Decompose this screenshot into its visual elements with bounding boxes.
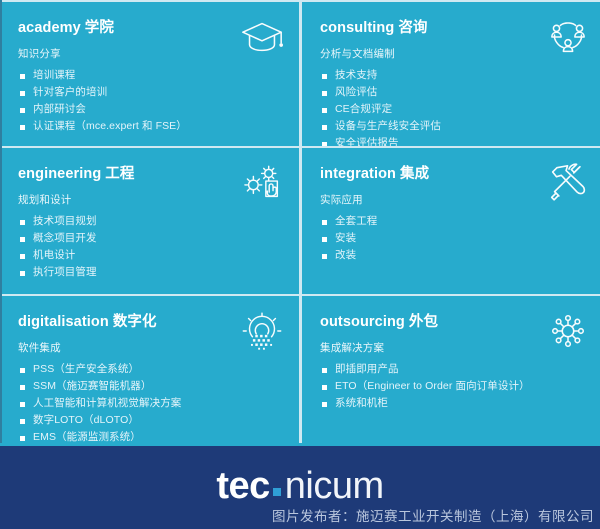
service-panel-digitalisation[interactable]: digitalisation数字化 软件集成 PSS（生产安全系统） SSM（施… xyxy=(2,296,299,449)
list-item: 执行项目管理 xyxy=(18,264,289,281)
panel-item-list: 全套工程 安装 改装 xyxy=(320,213,595,264)
panel-item-list: PSS（生产安全系统） SSM（施迈赛智能机器） 人工智能和计算机视觉解决方案 … xyxy=(18,361,289,446)
list-item: PSS（生产安全系统） xyxy=(18,361,289,378)
panel-title-cn: 集成 xyxy=(400,166,429,182)
list-item: 设备与生产线安全评估 xyxy=(320,118,595,135)
services-grid: academy学院 知识分享 培训课程 针对客户的培训 内部研讨会 认证课程（m… xyxy=(0,0,600,443)
logo-text-secondary: nicum xyxy=(285,465,384,507)
panel-title-en: engineering xyxy=(18,166,101,182)
digital-gear-pixel-icon xyxy=(239,308,285,354)
logo-text-primary: tec xyxy=(216,465,269,507)
footer-bar: tecnicum 图片发布者：施迈赛工业开关制造（上海）有限公司 xyxy=(0,443,600,529)
panel-title-en: outsourcing xyxy=(320,314,405,330)
list-item: 安装 xyxy=(320,230,595,247)
panel-title-cn: 外包 xyxy=(409,314,438,330)
list-item: 概念项目开发 xyxy=(18,230,289,247)
hub-nodes-icon xyxy=(545,308,591,354)
list-item: 针对客户的培训 xyxy=(18,84,289,101)
panel-title-cn: 咨询 xyxy=(398,20,427,36)
service-panel-academy[interactable]: academy学院 知识分享 培训课程 针对客户的培训 内部研讨会 认证课程（m… xyxy=(2,2,299,146)
service-panel-outsourcing[interactable]: outsourcing外包 集成解决方案 即插即用产品 ETO（Engineer… xyxy=(302,296,600,449)
panel-title-cn: 学院 xyxy=(85,20,114,36)
panel-title-en: digitalisation xyxy=(18,314,109,330)
list-item: ETO（Engineer to Order 面向订单设计） xyxy=(320,378,595,395)
list-item: 人工智能和计算机视觉解决方案 xyxy=(18,395,289,412)
left-edge-accent xyxy=(0,0,2,443)
panel-item-list: 培训课程 针对客户的培训 内部研讨会 认证课程（mce.expert 和 FSE… xyxy=(18,67,289,135)
panel-title-cn: 数字化 xyxy=(113,314,157,330)
panel-title-en: academy xyxy=(18,20,81,36)
people-network-icon xyxy=(545,14,591,60)
list-item: 技术项目规划 xyxy=(18,213,289,230)
tecnicum-services-infographic: academy学院 知识分享 培训课程 针对客户的培训 内部研讨会 认证课程（m… xyxy=(0,0,600,529)
panel-title-en: consulting xyxy=(320,20,394,36)
graduation-cap-icon xyxy=(239,14,285,60)
gears-hand-icon xyxy=(239,160,285,206)
panel-title-en: integration xyxy=(320,166,396,182)
panel-item-list: 技术项目规划 概念项目开发 机电设计 执行项目管理 xyxy=(18,213,289,281)
list-item: 风险评估 xyxy=(320,84,595,101)
list-item: CE合规评定 xyxy=(320,101,595,118)
list-item: 认证课程（mce.expert 和 FSE） xyxy=(18,118,289,135)
panel-item-list: 技术支持 风险评估 CE合规评定 设备与生产线安全评估 安全评估报告 xyxy=(320,67,595,146)
list-item: 改装 xyxy=(320,247,595,264)
list-item: SSM（施迈赛智能机器） xyxy=(18,378,289,395)
list-item: 安全评估报告 xyxy=(320,135,595,146)
tecnicum-logo: tecnicum xyxy=(0,465,600,508)
list-item: 培训课程 xyxy=(18,67,289,84)
service-panel-consulting[interactable]: consulting咨询 分析与文档编制 技术支持 风险评估 CE合规评定 设备… xyxy=(302,2,600,146)
service-panel-engineering[interactable]: engineering工程 规划和设计 技术项目规划 概念项目开发 机电设计 执… xyxy=(2,148,299,294)
publisher-watermark: 图片发布者：施迈赛工业开关制造（上海）有限公司 xyxy=(272,505,594,525)
list-item: 系统和机柜 xyxy=(320,395,595,412)
list-item: 数字LOTO（dLOTO） xyxy=(18,412,289,429)
logo-dot-icon xyxy=(273,488,281,496)
panel-item-list: 即插即用产品 ETO（Engineer to Order 面向订单设计） 系统和… xyxy=(320,361,595,412)
list-item: 技术支持 xyxy=(320,67,595,84)
wrench-screwdriver-icon xyxy=(545,160,591,206)
list-item: 机电设计 xyxy=(18,247,289,264)
service-panel-integration[interactable]: integration集成 实际应用 全套工程 安装 改装 xyxy=(302,148,600,294)
list-item: 即插即用产品 xyxy=(320,361,595,378)
list-item: 全套工程 xyxy=(320,213,595,230)
list-item: 内部研讨会 xyxy=(18,101,289,118)
panel-title-cn: 工程 xyxy=(105,166,134,182)
